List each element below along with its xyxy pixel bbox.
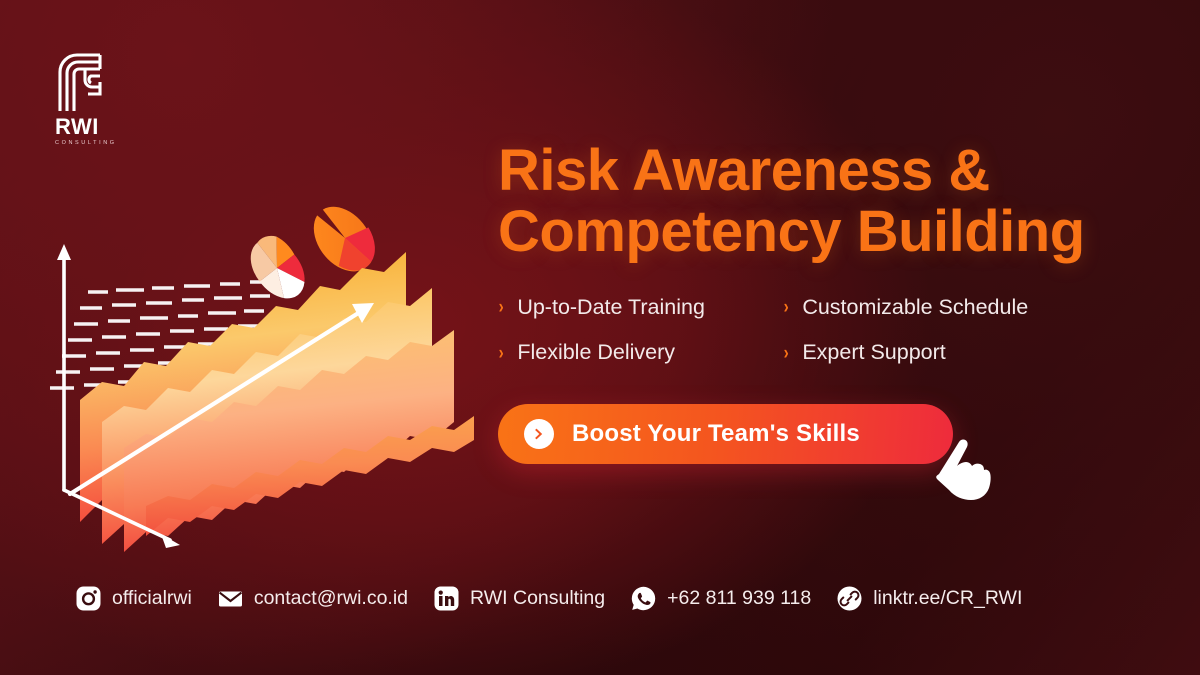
pie-chart-large (302, 194, 387, 283)
headline-line-2: Competency Building (498, 201, 1138, 262)
contact-text: contact@rwi.co.id (254, 589, 408, 609)
instagram-icon (76, 586, 101, 611)
feature-item-expert-support: › Expert Support (783, 342, 1138, 364)
marketing-banner: RWI CONSULTING (0, 0, 1200, 675)
page-title: Risk Awareness & Competency Building (498, 140, 1138, 263)
contact-whatsapp[interactable]: +62 811 939 118 (631, 586, 811, 611)
contact-bar: officialrwi contact@rwi.co.id RWI Consul… (76, 586, 1022, 611)
y-axis-arrowhead (57, 244, 71, 260)
chevron-right-icon: › (499, 298, 504, 317)
content-column: Risk Awareness & Competency Building › U… (498, 140, 1138, 464)
contact-text: officialrwi (112, 589, 192, 609)
contact-text: RWI Consulting (470, 589, 605, 609)
contact-linkedin[interactable]: RWI Consulting (434, 586, 605, 611)
feature-item-customizable-schedule: › Customizable Schedule (783, 297, 1138, 319)
boost-your-teams-skills-button[interactable]: Boost Your Team's Skills (498, 404, 953, 464)
cta-container: Boost Your Team's Skills (498, 404, 953, 464)
feature-label: Customizable Schedule (802, 297, 1028, 319)
chevron-right-icon: › (499, 344, 504, 363)
chevron-right-icon: › (784, 344, 789, 363)
feature-item-up-to-date-training: › Up-to-Date Training (498, 297, 783, 319)
contact-linktree[interactable]: linktr.ee/CR_RWI (837, 586, 1022, 611)
feature-label: Flexible Delivery (517, 342, 675, 364)
chevron-right-circle-icon (524, 419, 554, 449)
feature-label: Up-to-Date Training (517, 297, 705, 319)
contact-text: linktr.ee/CR_RWI (873, 589, 1022, 609)
feature-label: Expert Support (802, 342, 945, 364)
feature-item-flexible-delivery: › Flexible Delivery (498, 342, 783, 364)
contact-email[interactable]: contact@rwi.co.id (218, 586, 408, 611)
contact-instagram[interactable]: officialrwi (76, 586, 192, 611)
contact-text: +62 811 939 118 (667, 589, 811, 609)
headline-line-1: Risk Awareness & (498, 140, 1138, 201)
isometric-3d-area-chart (40, 100, 480, 560)
chevron-right-icon: › (784, 298, 789, 317)
cta-label: Boost Your Team's Skills (572, 420, 860, 448)
link-icon (837, 586, 862, 611)
depth-axis-arrowhead (161, 534, 180, 548)
email-icon (218, 586, 243, 611)
whatsapp-icon (631, 586, 656, 611)
pointing-hand-cursor-icon (929, 426, 1001, 502)
linkedin-icon (434, 586, 459, 611)
feature-list: › Up-to-Date Training › Customizable Sch… (498, 297, 1138, 364)
